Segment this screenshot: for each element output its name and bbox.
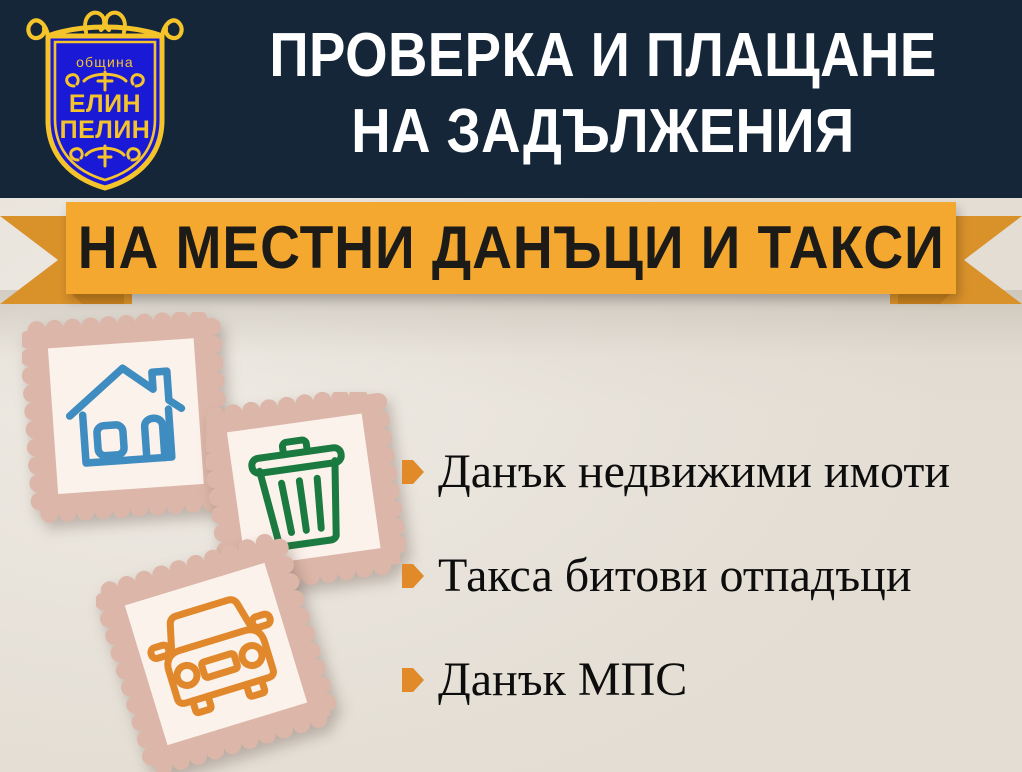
svg-text:ЕЛИН: ЕЛИН <box>69 90 141 118</box>
bullet-arrow-icon <box>402 460 424 484</box>
page-title-line-1: ПРОВЕРКА И ПЛАЩАНЕ <box>240 18 967 94</box>
svg-text:ПЕЛИН: ПЕЛИН <box>60 116 151 144</box>
list-item-label: Такса битови отпадъци <box>438 550 912 602</box>
list-item-label: Данък МПС <box>438 654 687 706</box>
page-title: ПРОВЕРКА И ПЛАЩАНЕ НА ЗАДЪЛЖЕНИЯ <box>190 18 1016 170</box>
ribbon-label: НА МЕСТНИ ДАНЪЦИ И ТАКСИ <box>77 217 944 279</box>
poster-canvas: община ЕЛИН ПЕЛИН <box>0 0 1022 772</box>
header-bar: община ЕЛИН ПЕЛИН <box>0 0 1022 198</box>
coat-of-arms-shield-icon: община ЕЛИН ПЕЛИН <box>22 2 188 194</box>
list-item-label: Данък недвижими имоти <box>438 446 950 498</box>
stamp-car <box>96 534 336 772</box>
list-item[interactable]: Такса битови отпадъци <box>402 524 1014 628</box>
list-item[interactable]: Данък МПС <box>402 628 1014 732</box>
bullet-arrow-icon <box>402 668 424 692</box>
ribbon-band: НА МЕСТНИ ДАНЪЦИ И ТАКСИ <box>66 202 956 294</box>
bullet-arrow-icon <box>402 564 424 588</box>
ribbon-banner: НА МЕСТНИ ДАНЪЦИ И ТАКСИ <box>0 202 1022 310</box>
stamp-house <box>22 312 234 524</box>
list-item[interactable]: Данък недвижими имоти <box>402 420 1014 524</box>
svg-text:община: община <box>76 54 134 70</box>
tax-list: Данък недвижими имоти Такса битови отпад… <box>402 420 1014 732</box>
page-title-line-2: НА ЗАДЪЛЖЕНИЯ <box>240 94 967 170</box>
